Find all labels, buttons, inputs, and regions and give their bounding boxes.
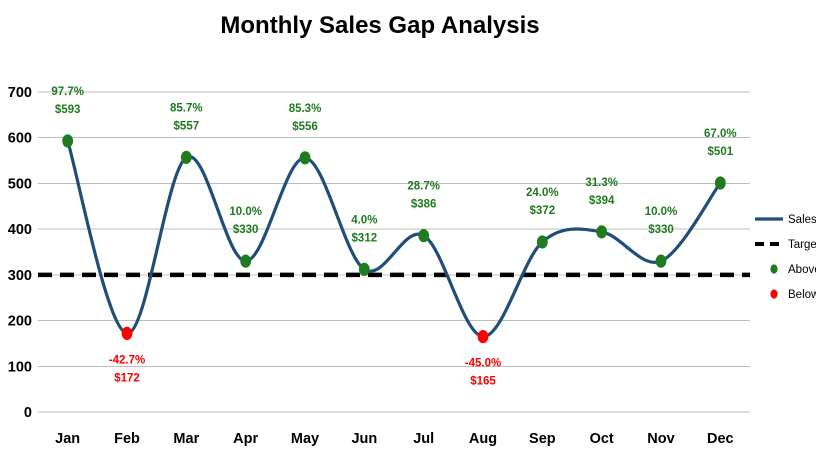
data-label-percent-dec: 67.0% [704,128,737,140]
y-axis-tick-label: 0 [24,405,32,421]
data-label-percent-apr: 10.0% [229,206,262,218]
data-point-marker-nov [656,255,667,268]
sales-line [68,141,721,337]
data-label-amount-mar: $557 [174,120,200,132]
data-label-percent-jun: 4.0% [351,214,377,226]
x-axis-tick-label: Apr [233,431,258,447]
data-label-amount-jun: $312 [352,232,378,244]
x-axis-tick-label: Dec [707,431,734,447]
data-label-percent-sep: 24.0% [526,187,559,199]
data-label-percent-jan: 97.7% [51,86,84,98]
x-axis-tick-label: Feb [114,431,140,447]
data-point-marker-feb [122,327,133,340]
data-label-percent-mar: 85.7% [170,102,203,114]
data-label-amount-aug: $165 [470,376,496,388]
y-axis-tick-label: 500 [8,176,32,192]
data-point-marker-may [300,151,311,164]
y-axis-tick-label: 600 [8,131,32,147]
data-label-amount-oct: $394 [589,195,615,207]
legend-swatch-below [770,289,777,298]
x-axis-tick-label: Aug [469,431,497,447]
data-label-amount-apr: $330 [233,224,259,236]
x-axis-tick-label: Sep [529,431,556,447]
data-label-amount-nov: $330 [648,224,674,236]
legend-label-target: Target [788,239,816,251]
x-axis-tick-label: Jul [413,431,434,447]
data-point-marker-jun [359,263,370,276]
x-axis-tick-label: Oct [590,431,614,447]
data-label-percent-feb: -42.7% [109,354,145,366]
data-point-marker-sep [537,235,548,248]
chart-container: Monthly Sales Gap Analysis 0100200300400… [0,0,816,468]
chart-legend: SalesTargetAboveBelow [755,214,816,301]
x-axis-tick-label: Jan [55,431,80,447]
data-label-amount-dec: $501 [708,146,734,158]
data-label-percent-aug: -45.0% [465,358,501,370]
x-axis-tick-labels: JanFebMarAprMayJunJulAugSepOctNovDec [55,431,733,447]
data-point-marker-apr [240,255,251,268]
data-point-marker-dec [715,176,726,189]
chart-plot-area: 0100200300400500600700 JanFebMarAprMayJu… [0,0,816,468]
y-axis-tick-labels: 0100200300400500600700 [8,85,32,421]
data-point-marker-oct [596,225,607,238]
data-point-marker-mar [181,151,192,164]
y-axis-tick-label: 200 [8,314,32,330]
x-axis-tick-label: Jun [351,431,377,447]
y-axis-tick-label: 100 [8,359,32,375]
data-point-labels: 97.7%$593-42.7%$17285.7%$55710.0%$33085.… [51,86,736,388]
data-label-percent-may: 85.3% [289,103,322,115]
data-label-amount-sep: $372 [530,205,556,217]
x-axis-tick-label: May [291,431,319,447]
legend-label-above: Above [788,264,816,276]
data-label-amount-jul: $386 [411,199,437,211]
legend-label-sales: Sales [788,214,816,226]
x-axis-tick-label: Nov [647,431,674,447]
x-axis-tick-label: Mar [173,431,199,447]
data-label-amount-may: $556 [292,121,318,133]
data-label-percent-jul: 28.7% [407,181,440,193]
data-point-marker-jan [62,134,73,147]
data-label-percent-oct: 31.3% [585,177,618,189]
y-axis-tick-label: 300 [8,268,32,284]
data-point-markers [62,134,725,343]
legend-label-below: Below [788,289,816,301]
y-axis-tick-label: 700 [8,85,32,101]
data-point-marker-aug [478,330,489,343]
y-axis-tick-label: 400 [8,222,32,238]
sales-line-path [68,141,721,337]
data-label-amount-jan: $593 [55,104,81,116]
legend-swatch-above [770,264,777,273]
data-label-percent-nov: 10.0% [645,206,678,218]
data-point-marker-jul [418,229,429,242]
data-label-amount-feb: $172 [114,372,140,384]
